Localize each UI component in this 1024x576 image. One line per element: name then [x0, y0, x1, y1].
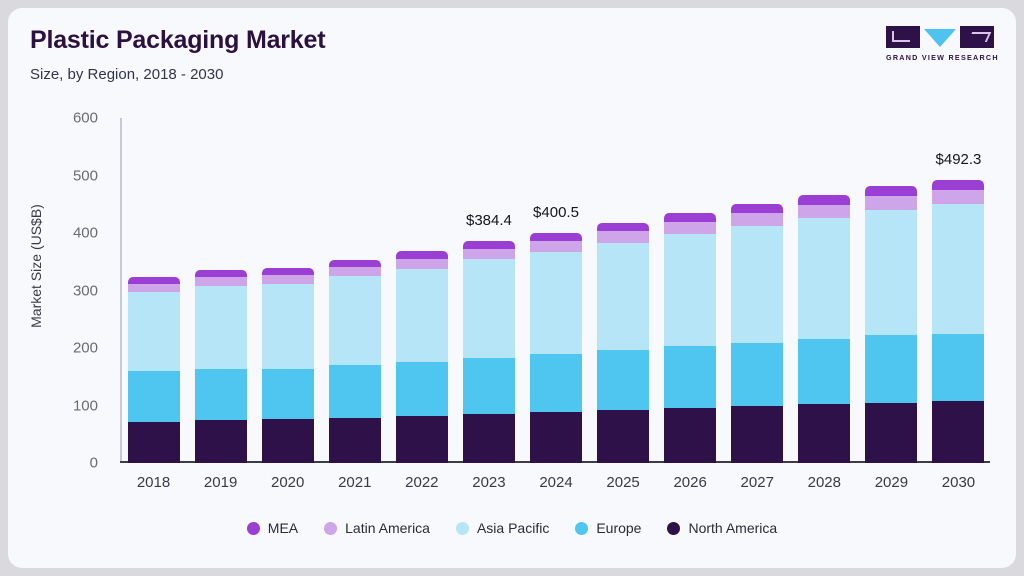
bar-segment-mea[interactable] [463, 241, 515, 248]
bar-segment-latin-america[interactable] [798, 205, 850, 218]
bar-segment-latin-america[interactable] [195, 277, 247, 286]
bar-segment-north-america[interactable] [597, 410, 649, 463]
x-axis-tick-2028: 2028 [791, 474, 858, 491]
bar-segment-latin-america[interactable] [664, 222, 716, 234]
bar-segment-latin-america[interactable] [396, 259, 448, 269]
bar-group-2026[interactable] [657, 118, 724, 463]
legend-item-mea[interactable]: MEA [247, 520, 298, 536]
bar-segment-latin-america[interactable] [932, 190, 984, 204]
bar-segment-asia-pacific[interactable] [396, 269, 448, 363]
bar-segment-asia-pacific[interactable] [128, 292, 180, 371]
bar-value-label: $400.5 [533, 204, 579, 221]
stacked-bar[interactable] [530, 233, 582, 463]
bar-segment-mea[interactable] [396, 251, 448, 258]
bar-segment-north-america[interactable] [932, 401, 984, 463]
legend-label: Europe [596, 520, 641, 536]
bar-value-label: $492.3 [936, 151, 982, 168]
bar-segment-mea[interactable] [329, 260, 381, 267]
legend-item-latin-america[interactable]: Latin America [324, 520, 430, 536]
stacked-bar[interactable] [329, 260, 381, 463]
bar-segment-north-america[interactable] [396, 416, 448, 463]
bar-segment-north-america[interactable] [195, 420, 247, 463]
bar-segment-europe[interactable] [396, 362, 448, 415]
bar-segment-mea[interactable] [731, 204, 783, 214]
bar-segment-mea[interactable] [798, 195, 850, 205]
legend-swatch-icon [247, 522, 260, 535]
stacked-bar[interactable] [128, 277, 180, 463]
bar-segment-europe[interactable] [262, 369, 314, 420]
x-axis-tick-2018: 2018 [120, 474, 187, 491]
y-axis-tick: 100 [48, 397, 98, 414]
bar-segment-asia-pacific[interactable] [329, 276, 381, 365]
bar-segment-europe[interactable] [597, 350, 649, 409]
bar-segment-latin-america[interactable] [329, 267, 381, 276]
bar-segment-latin-america[interactable] [463, 249, 515, 259]
bar-segment-asia-pacific[interactable] [664, 234, 716, 346]
bar-segment-latin-america[interactable] [865, 196, 917, 210]
stacked-bar[interactable] [798, 195, 850, 463]
bar-segment-asia-pacific[interactable] [530, 252, 582, 354]
bar-group-2021[interactable] [321, 118, 388, 463]
bar-segment-europe[interactable] [530, 354, 582, 412]
stacked-bar[interactable] [664, 213, 716, 463]
y-axis-label: Market Size (US$B) [28, 166, 44, 366]
bar-segment-mea[interactable] [530, 233, 582, 241]
bar-segment-mea[interactable] [597, 223, 649, 232]
bar-group-2030[interactable]: $492.3 [925, 118, 992, 463]
legend-label: Asia Pacific [477, 520, 549, 536]
bar-segment-europe[interactable] [128, 371, 180, 422]
bar-group-2024[interactable]: $400.5 [522, 118, 589, 463]
y-axis-tick: 0 [48, 455, 98, 472]
bar-series-area: $384.4$400.5$492.3 [120, 118, 992, 463]
bar-value-label: $384.4 [466, 212, 512, 229]
stacked-bar[interactable] [262, 268, 314, 463]
y-axis-tick: 300 [48, 282, 98, 299]
bar-segment-north-america[interactable] [731, 406, 783, 463]
bar-segment-latin-america[interactable] [128, 284, 180, 292]
bar-segment-north-america[interactable] [262, 419, 314, 463]
bar-segment-mea[interactable] [195, 270, 247, 277]
bar-group-2028[interactable] [791, 118, 858, 463]
x-axis-ticks: 2018201920202021202220232024202520262027… [120, 474, 992, 491]
bar-group-2019[interactable] [187, 118, 254, 463]
x-axis-tick-2022: 2022 [388, 474, 455, 491]
legend-item-europe[interactable]: Europe [575, 520, 641, 536]
stacked-bar[interactable] [463, 241, 515, 463]
y-axis-tick: 600 [48, 110, 98, 127]
y-axis-ticks: 0100200300400500600 [48, 8, 98, 568]
bar-segment-asia-pacific[interactable] [731, 226, 783, 343]
x-axis-tick-2029: 2029 [858, 474, 925, 491]
stacked-bar[interactable] [396, 251, 448, 463]
bar-segment-mea[interactable] [865, 186, 917, 196]
x-axis-tick-2021: 2021 [321, 474, 388, 491]
chart-card: Plastic Packaging Market Size, by Region… [8, 8, 1016, 568]
bar-segment-latin-america[interactable] [262, 275, 314, 284]
bar-segment-europe[interactable] [195, 369, 247, 420]
x-axis-tick-2024: 2024 [522, 474, 589, 491]
bar-segment-north-america[interactable] [865, 403, 917, 463]
legend-item-asia-pacific[interactable]: Asia Pacific [456, 520, 549, 536]
bar-segment-north-america[interactable] [798, 404, 850, 463]
bar-segment-mea[interactable] [262, 268, 314, 275]
bar-segment-europe[interactable] [865, 335, 917, 402]
y-axis-tick: 200 [48, 340, 98, 357]
bar-segment-europe[interactable] [664, 346, 716, 408]
stacked-bar[interactable] [731, 204, 783, 463]
bar-segment-asia-pacific[interactable] [195, 286, 247, 369]
x-axis-tick-2030: 2030 [925, 474, 992, 491]
bar-group-2020[interactable] [254, 118, 321, 463]
bar-segment-north-america[interactable] [463, 414, 515, 463]
bar-segment-latin-america[interactable] [731, 213, 783, 226]
bar-segment-north-america[interactable] [128, 422, 180, 463]
x-axis-tick-2020: 2020 [254, 474, 321, 491]
bar-segment-europe[interactable] [731, 343, 783, 406]
bar-segment-europe[interactable] [798, 339, 850, 405]
bar-group-2022[interactable] [388, 118, 455, 463]
bar-segment-asia-pacific[interactable] [932, 204, 984, 334]
bar-segment-asia-pacific[interactable] [463, 259, 515, 358]
legend-swatch-icon [575, 522, 588, 535]
stacked-bar[interactable] [932, 180, 984, 463]
legend-swatch-icon [324, 522, 337, 535]
stacked-bar[interactable] [865, 186, 917, 463]
bar-group-2018[interactable] [120, 118, 187, 463]
bar-segment-europe[interactable] [329, 365, 381, 417]
bar-segment-asia-pacific[interactable] [262, 284, 314, 369]
bar-group-2027[interactable] [724, 118, 791, 463]
legend-swatch-icon [667, 522, 680, 535]
x-axis-tick-2026: 2026 [657, 474, 724, 491]
x-axis-tick-2027: 2027 [724, 474, 791, 491]
bar-segment-mea[interactable] [932, 180, 984, 190]
bar-segment-latin-america[interactable] [530, 241, 582, 252]
y-axis-tick: 400 [48, 225, 98, 242]
legend-label: MEA [268, 520, 298, 536]
x-axis-tick-2023: 2023 [455, 474, 522, 491]
bar-group-2023[interactable]: $384.4 [455, 118, 522, 463]
bar-segment-europe[interactable] [463, 358, 515, 414]
legend-label: Latin America [345, 520, 430, 536]
bar-segment-asia-pacific[interactable] [798, 218, 850, 339]
bar-segment-asia-pacific[interactable] [865, 210, 917, 335]
legend-item-north-america[interactable]: North America [667, 520, 777, 536]
bar-chart: Market Size (US$B) 0100200300400500600 $… [8, 8, 1016, 568]
bar-segment-north-america[interactable] [664, 408, 716, 463]
legend-label: North America [688, 520, 777, 536]
y-axis-tick: 500 [48, 167, 98, 184]
legend-swatch-icon [456, 522, 469, 535]
bar-segment-latin-america[interactable] [597, 231, 649, 243]
bar-segment-north-america[interactable] [329, 418, 381, 463]
x-axis-tick-2019: 2019 [187, 474, 254, 491]
bar-segment-north-america[interactable] [530, 412, 582, 463]
bar-segment-mea[interactable] [664, 213, 716, 222]
bar-group-2029[interactable] [858, 118, 925, 463]
stacked-bar[interactable] [195, 270, 247, 463]
stacked-bar[interactable] [597, 223, 649, 463]
bar-segment-europe[interactable] [932, 334, 984, 401]
bar-group-2025[interactable] [590, 118, 657, 463]
bar-segment-asia-pacific[interactable] [597, 243, 649, 351]
chart-legend: MEALatin AmericaAsia PacificEuropeNorth … [8, 520, 1016, 536]
x-axis-tick-2025: 2025 [590, 474, 657, 491]
